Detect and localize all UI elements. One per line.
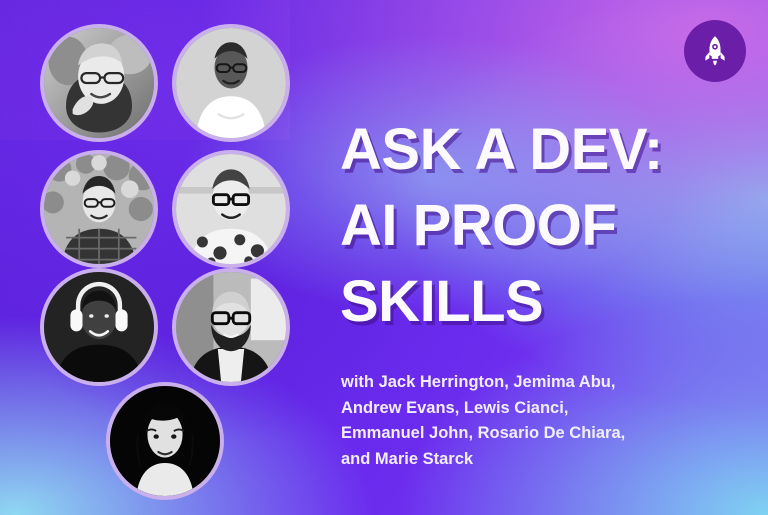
avatar — [40, 268, 158, 386]
avatar — [106, 382, 224, 500]
avatar-photo — [44, 28, 154, 138]
avatar-photo — [110, 386, 220, 496]
poster-title: ASK A DEV: AI PROOF SKILLS — [340, 112, 740, 340]
avatar-photo — [176, 272, 286, 382]
avatar — [172, 150, 290, 268]
avatar-photo — [44, 272, 154, 382]
poster-text-block: ASK A DEV: AI PROOF SKILLS with Jack Her… — [340, 0, 740, 515]
speaker-avatar-grid — [0, 0, 310, 515]
poster-subtitle-speakers: with Jack Herrington, Jemima Abu, Andrew… — [341, 370, 716, 472]
avatar-photo — [44, 154, 154, 264]
avatar-photo — [176, 154, 286, 264]
avatar — [172, 268, 290, 386]
avatar — [40, 150, 158, 268]
avatar — [40, 24, 158, 142]
avatar-photo — [176, 28, 286, 138]
poster-canvas: ASK A DEV: AI PROOF SKILLS with Jack Her… — [0, 0, 768, 515]
avatar — [172, 24, 290, 142]
